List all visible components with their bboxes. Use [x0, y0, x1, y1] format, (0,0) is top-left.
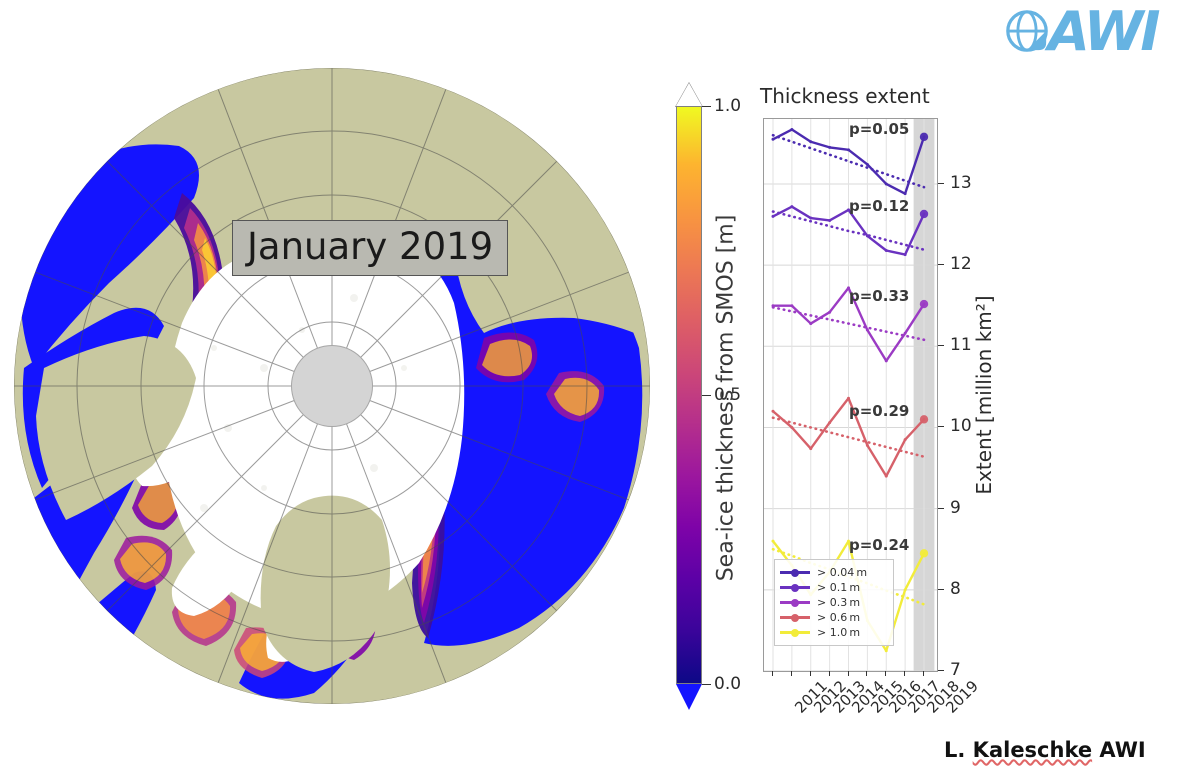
y-tick-mark [938, 670, 944, 671]
thickness-extent-chart: Thickness extent > 0.04 m> 0.1 m> 0.3 m>… [752, 80, 1012, 760]
p-value-label: p=0.12 [849, 197, 909, 215]
x-tick-mark [772, 671, 773, 676]
credit-prefix: L. [944, 738, 973, 762]
legend-label: > 1.0 m [817, 626, 860, 639]
legend-color-swatch [780, 631, 810, 634]
legend-label: > 0.1 m [817, 581, 860, 594]
legend-color-swatch [780, 571, 810, 574]
chart-legend: > 0.04 m> 0.1 m> 0.3 m> 0.6 m> 1.0 m [774, 559, 894, 646]
y-tick-mark [938, 183, 944, 184]
x-tick-mark [848, 671, 849, 676]
y-tick-mark [938, 426, 944, 427]
legend-color-swatch [780, 601, 810, 604]
p-value-label: p=0.33 [849, 287, 909, 305]
legend-color-swatch [780, 616, 810, 619]
y-tick-label: 10 [950, 416, 972, 436]
colorbar-tick-label-2: 1.0 [714, 96, 741, 116]
y-tick-label: 9 [950, 498, 961, 518]
x-tick-mark [791, 671, 792, 676]
colorbar-gradient [676, 106, 702, 684]
y-tick-label: 11 [950, 335, 972, 355]
colorbar-over-triangle [676, 83, 702, 106]
chart-title: Thickness extent [760, 84, 930, 108]
y-tick-mark [938, 589, 944, 590]
x-tick-mark [810, 671, 811, 676]
p-value-label: p=0.24 [849, 536, 909, 554]
awi-wordmark: AWI [1048, 0, 1158, 63]
y-tick-label: 7 [950, 660, 961, 680]
author-credit: L. Kaleschke AWI [944, 738, 1146, 762]
colorbar-panel: 0.0 0.5 1.0 Sea-ice thickness from SMOS … [668, 80, 764, 720]
x-tick-mark [885, 671, 886, 676]
colorbar-tick-mark [702, 395, 711, 396]
globe-icon [1004, 8, 1050, 54]
colorbar-tick-label-0: 0.0 [714, 674, 741, 694]
awi-logo: AWI [1000, 2, 1195, 60]
x-tick-mark [866, 671, 867, 676]
legend-label: > 0.3 m [817, 596, 860, 609]
y-tick-label: 12 [950, 254, 972, 274]
p-value-label: p=0.05 [849, 120, 909, 138]
legend-item[interactable]: > 0.04 m [780, 565, 887, 580]
y-tick-label: 13 [950, 173, 972, 193]
legend-item[interactable]: > 0.1 m [780, 580, 887, 595]
y-tick-mark [938, 345, 944, 346]
y-axis-title: Extent [million km²] [972, 295, 996, 494]
colorbar-tick-mark [702, 106, 711, 107]
y-tick-mark [938, 508, 944, 509]
map-date-title: January 2019 [232, 220, 508, 276]
colorbar-axis-label: Sea-ice thickness from SMOS [m] [714, 215, 739, 582]
legend-color-swatch [780, 586, 810, 589]
colorbar-under-triangle [676, 684, 702, 710]
y-tick-mark [938, 264, 944, 265]
legend-item[interactable]: > 0.3 m [780, 595, 887, 610]
p-value-label: p=0.29 [849, 402, 909, 420]
x-tick-mark [923, 671, 924, 676]
legend-item[interactable]: > 0.6 m [780, 610, 887, 625]
x-tick-mark [829, 671, 830, 676]
credit-suffix: AWI [1092, 738, 1146, 762]
polar-map-disc [14, 68, 650, 704]
credit-name: Kaleschke [973, 738, 1092, 762]
legend-label: > 0.6 m [817, 611, 860, 624]
x-tick-mark [904, 671, 905, 676]
legend-item[interactable]: > 1.0 m [780, 625, 887, 640]
arctic-map-panel: January 2019 [14, 68, 654, 708]
legend-label: > 0.04 m [817, 566, 867, 579]
pole-data-gap [291, 345, 373, 427]
y-tick-label: 8 [950, 579, 961, 599]
colorbar-tick-mark [702, 684, 711, 685]
